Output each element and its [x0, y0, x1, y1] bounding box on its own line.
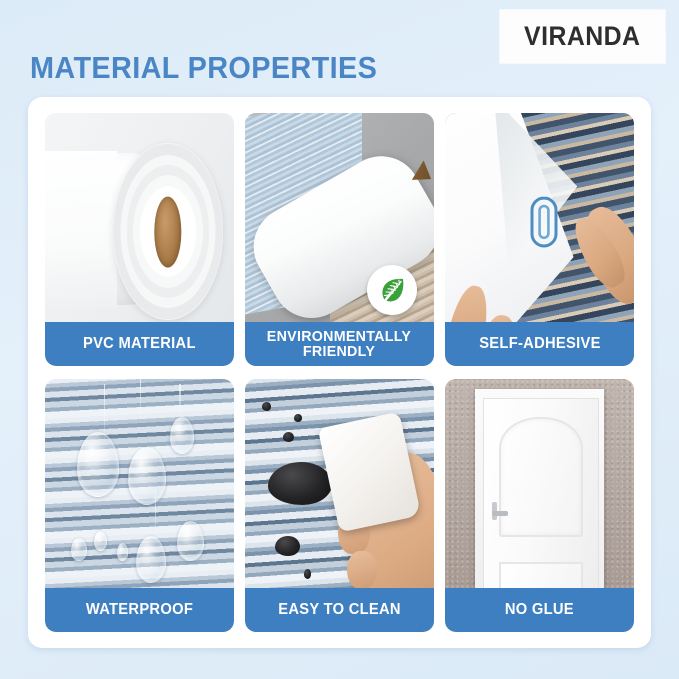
paperclip-icon [524, 194, 564, 255]
feature-label-waterproof: WATERPROOF [45, 588, 234, 632]
feature-tile-easy-to-clean: EASY TO CLEAN [245, 379, 434, 632]
brand-name: VIRANDA [524, 21, 640, 52]
feature-label-self-adhesive: SELF-ADHESIVE [445, 322, 634, 366]
feature-tile-waterproof: WATERPROOF [45, 379, 234, 632]
infographic-page: VIRANDA MATERIAL PROPERTIES PVC MATERIAL [0, 0, 679, 679]
feature-label-text: SELF-ADHESIVE [479, 336, 601, 352]
feature-tile-no-glue: NO GLUE [445, 379, 634, 632]
feature-tile-pvc-material: PVC MATERIAL [45, 113, 234, 366]
feature-label-text-line2: FRIENDLY [267, 344, 411, 359]
page-title: MATERIAL PROPERTIES [30, 50, 377, 86]
feature-label-pvc-material: PVC MATERIAL [45, 322, 234, 366]
feature-label-environmentally-friendly: ENVIRONMENTALLY FRIENDLY [245, 322, 434, 366]
feature-label-text-line1: ENVIRONMENTALLY [267, 329, 411, 344]
brand-logo: VIRANDA [500, 10, 665, 63]
feature-label-text: NO GLUE [505, 602, 574, 618]
feature-label-easy-to-clean: EASY TO CLEAN [245, 588, 434, 632]
feature-label-no-glue: NO GLUE [445, 588, 634, 632]
feature-label-text: WATERPROOF [86, 602, 193, 618]
feature-tile-self-adhesive: SELF-ADHESIVE [445, 113, 634, 366]
feature-tile-environmentally-friendly: ENVIRONMENTALLY FRIENDLY [245, 113, 434, 366]
feature-card: PVC MATERIAL [28, 97, 651, 648]
feature-label-text: PVC MATERIAL [83, 336, 196, 352]
feature-grid: PVC MATERIAL [45, 113, 634, 632]
feature-label-text: EASY TO CLEAN [278, 602, 401, 618]
